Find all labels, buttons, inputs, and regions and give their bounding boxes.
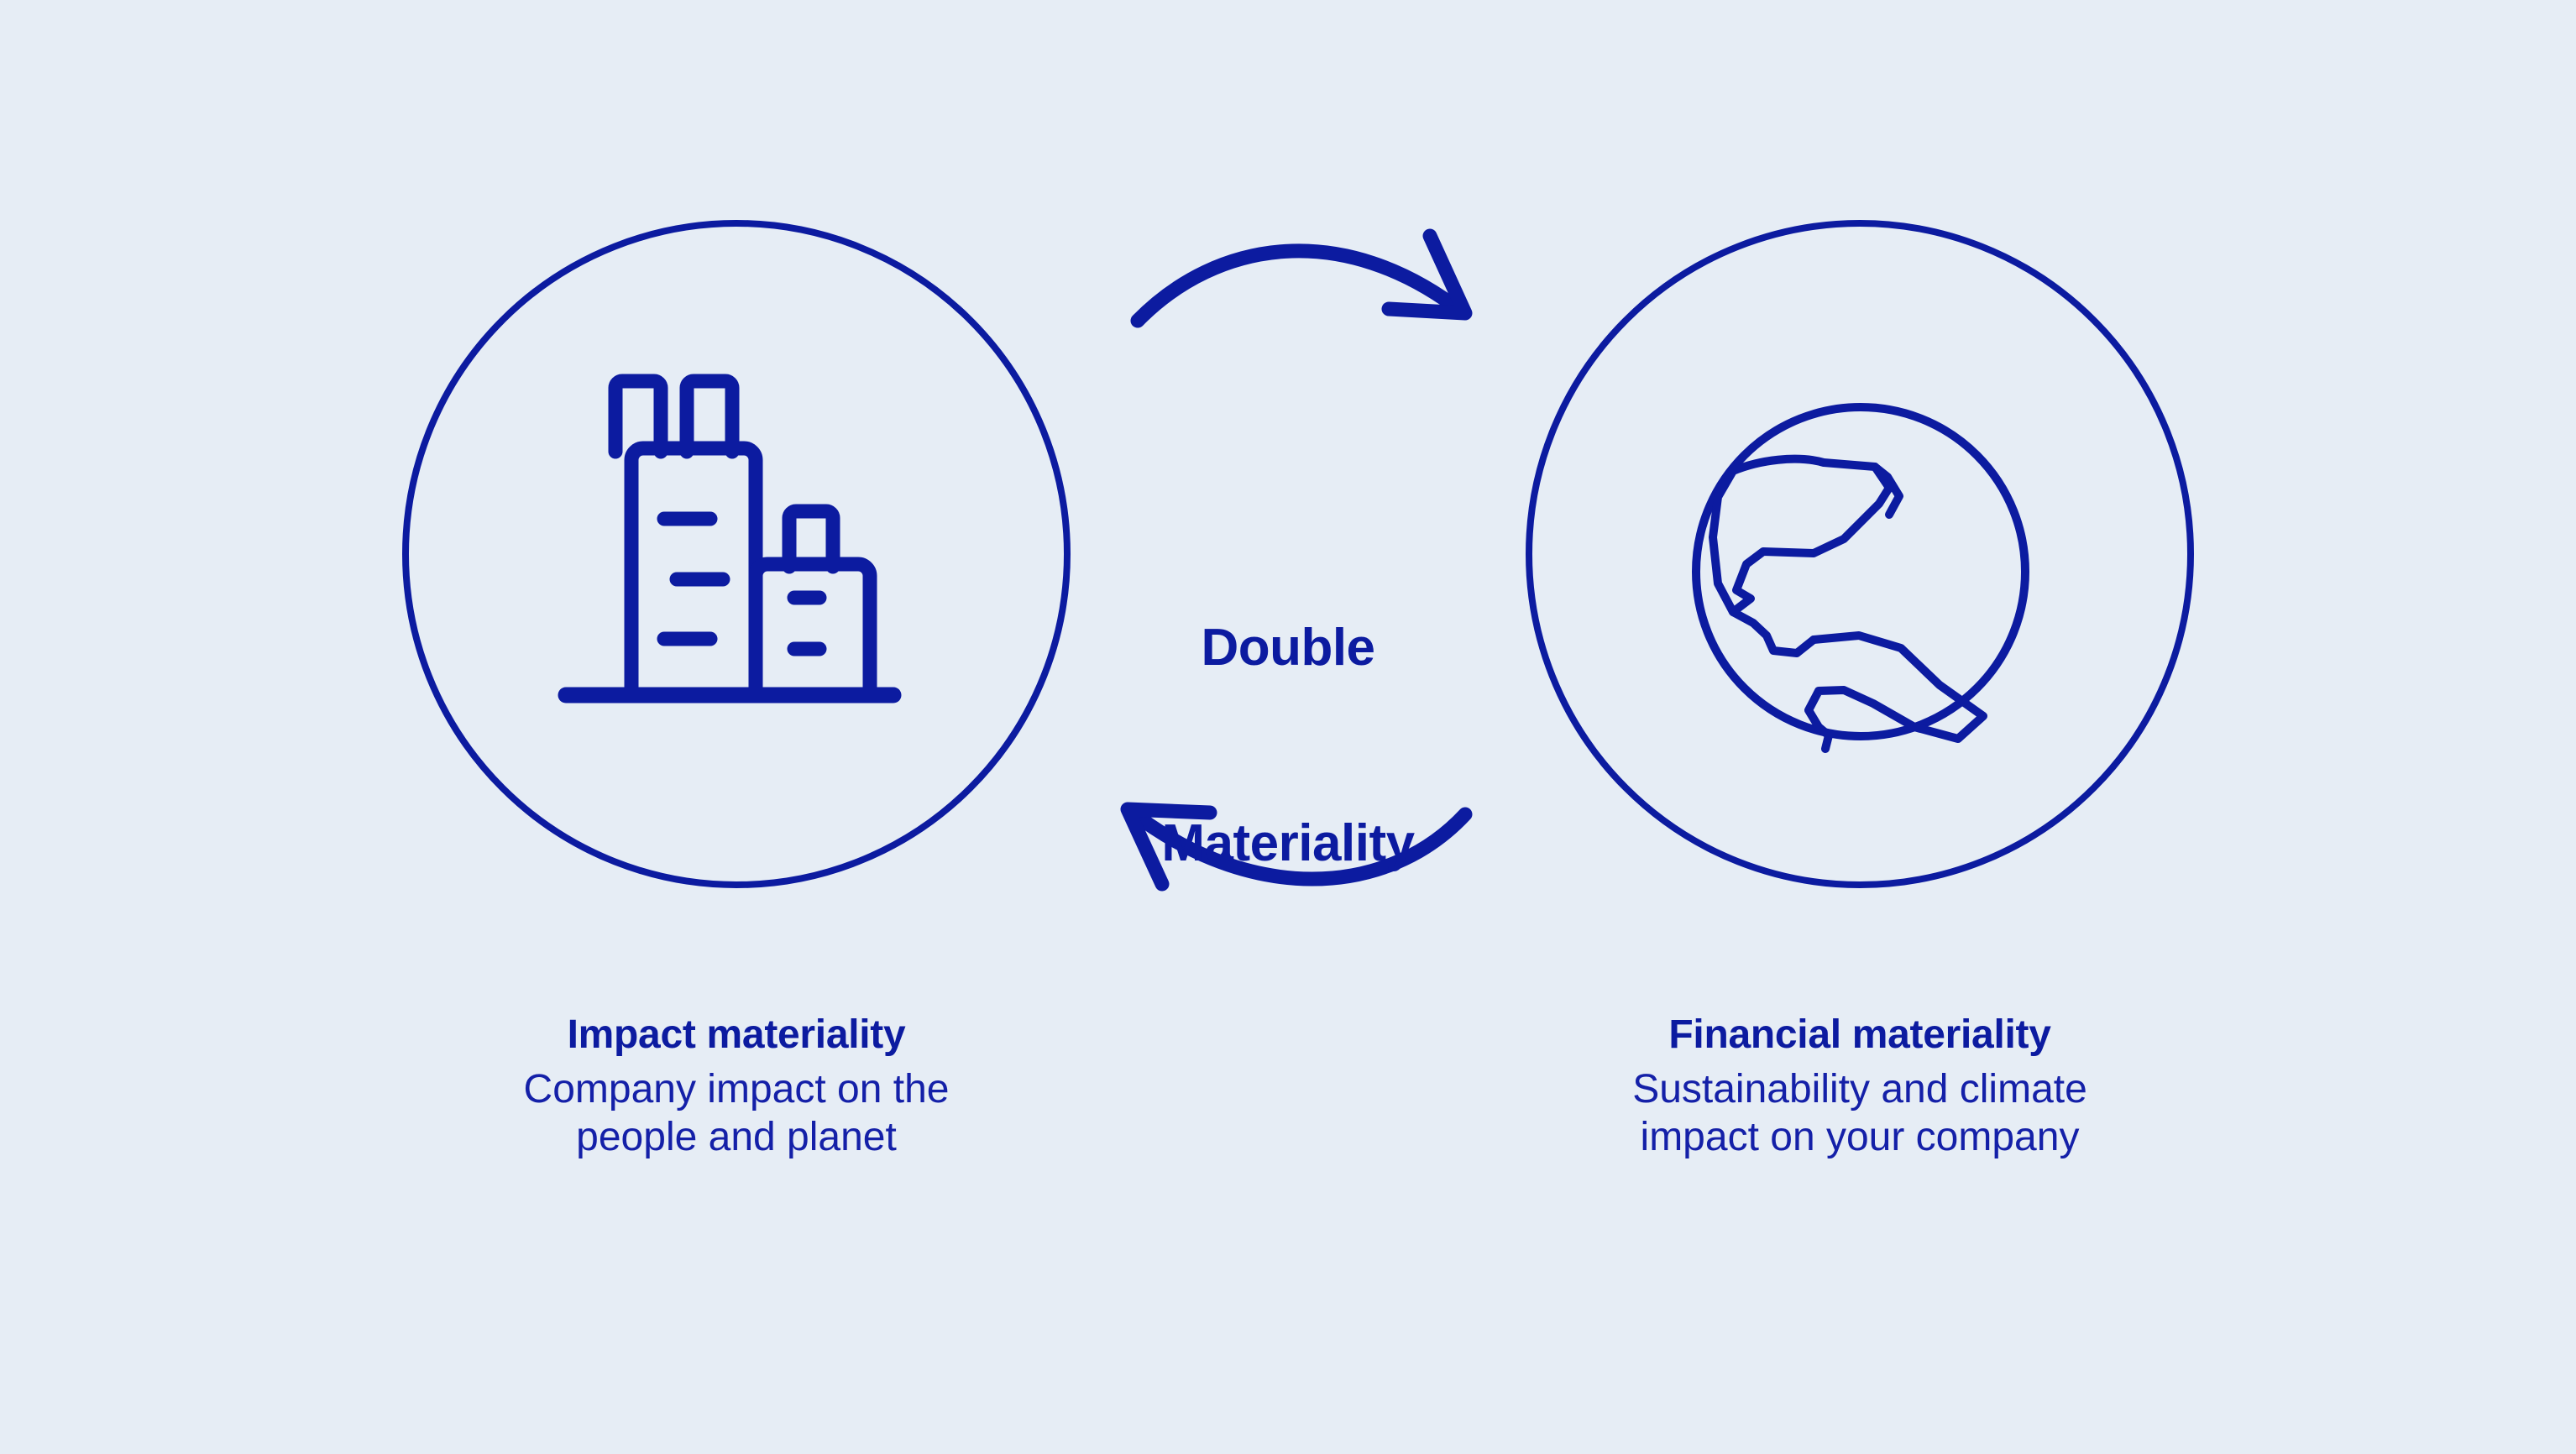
factory-building-small [756,564,870,695]
financial-circle-outline [1529,223,2191,885]
financial-materiality-heading: Financial materiality [1482,1014,2238,1056]
factory-chimney-left [615,381,661,452]
financial-circle-group [1529,223,2191,885]
factory-icon [566,381,893,695]
factory-chimney-right [687,381,732,452]
center-title: Double Materiality [1036,485,1540,1006]
globe-icon [1696,407,2025,749]
double-materiality-diagram: Double Materiality Impact materiality Co… [0,0,2576,1454]
impact-materiality-heading: Impact materiality [359,1014,1114,1056]
center-title-line-2: Materiality [1036,811,1540,876]
impact-circle-group [406,223,1067,885]
impact-materiality-body: Company impact on the people and planet [359,1066,1114,1161]
impact-to-financial-arrow [1138,236,1465,321]
impact-materiality-caption: Impact materiality Company impact on the… [359,1014,1114,1162]
globe-landmass-north [1713,459,1889,612]
globe-landmass-isthmus [1733,612,1814,653]
impact-circle-outline [406,223,1067,885]
financial-materiality-caption: Financial materiality Sustainability and… [1482,1014,2238,1162]
factory-building-large [631,448,756,695]
financial-materiality-body: Sustainability and climate impact on you… [1482,1066,2238,1161]
center-title-line-1: Double [1036,615,1540,681]
